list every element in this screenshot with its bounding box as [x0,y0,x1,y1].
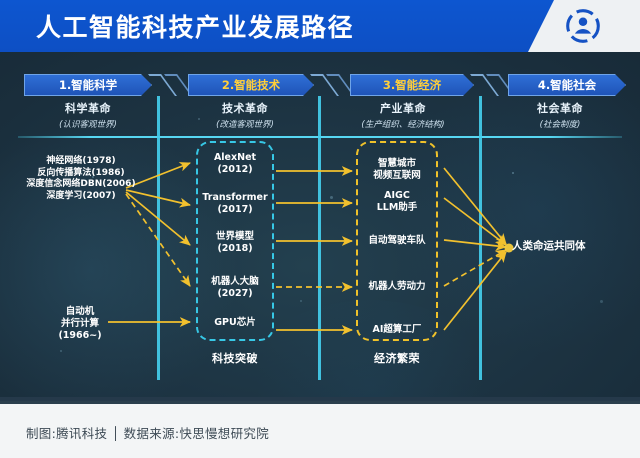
econ-node-aigc: AIGC LLM助手 [356,190,438,214]
column-divider [157,96,160,380]
tech-node-gpu-chip: GPU芯片 [196,317,274,329]
stage-header-2[interactable]: 2.智能技术 [188,74,314,96]
revolution-name: 科学革命 [18,100,158,116]
revolution-name: 技术革命 [172,100,318,116]
particle-dot [512,172,514,174]
node-line: 世界模型 [196,231,274,243]
stage-header-4[interactable]: 4.智能社会 [508,74,626,96]
stage-subtitle-4: 社会革命 (社会制度) [490,100,630,130]
science-items-list: 神经网络(1978) 反向传播算法(1986) 深度信念网络DBN(2006) … [6,156,156,202]
node-line: 机器人大脑 [194,276,276,288]
stage-header-3[interactable]: 3.智能经济 [350,74,474,96]
node-line: AlexNet [196,152,274,164]
tech-node-robot-brain: 机器人大脑 (2027) [194,276,276,300]
title-bar: 人工智能科技产业发展路径 [0,0,640,52]
stage-label: 3.智能经济 [383,77,441,93]
stage-subtitle-3: 产业革命 (生产组织、经济结构) [328,100,478,130]
tech-node-world-model: 世界模型 (2018) [196,231,274,255]
tencent-news-logo-icon [566,9,600,43]
econ-node-ai-supercompute-factory: AI超算工厂 [352,324,442,336]
node-line: (2017) [190,204,280,216]
node-line: LLM助手 [356,202,438,214]
node-line: (2027) [194,288,276,300]
node-line: 自动机 [20,306,140,318]
list-item: 深度信念网络DBN(2006) [6,179,156,191]
tech-node-alexnet: AlexNet (2012) [196,152,274,176]
node-line: 并行计算 [20,318,140,330]
econ-node-smart-city: 智慧城市 视频互联网 [356,158,438,182]
column-divider [479,96,482,380]
list-item: 深度学习(2007) [6,191,156,203]
stage-subtitle-2: 技术革命 (改造客观世界) [172,100,318,130]
node-line: (2018) [196,243,274,255]
economic-prosperity-caption: 经济繁荣 [356,350,438,366]
node-line: 机器人劳动力 [352,281,442,293]
particle-dot [600,300,603,303]
revolution-note: (生产组织、经济结构) [328,118,478,130]
page-title: 人工智能科技产业发展路径 [36,8,354,44]
econ-node-robot-labor: 机器人劳动力 [352,281,442,293]
infographic-canvas: 人工智能科技产业发展路径 1.智能科学 2.智能技术 3.智能经济 4.智能社会… [0,0,640,458]
stage-header-1[interactable]: 1.智能科学 [24,74,152,96]
econ-node-autonomous-fleet: 自动驾驶车队 [352,235,442,247]
tech-node-transformer: Transformer (2017) [190,192,280,216]
node-line: AI超算工厂 [352,324,442,336]
node-line: (2012) [196,164,274,176]
stage-label: 2.智能技术 [222,77,280,93]
node-line: GPU芯片 [196,317,274,329]
revolution-note: (改造客观世界) [172,118,318,130]
particle-dot [330,196,333,199]
node-line: (1966~) [20,330,140,342]
particle-dot [300,300,302,302]
node-line: Transformer [190,192,280,204]
credit-text: 制图:腾讯科技 │ 数据来源:快思慢想研究院 [26,423,269,442]
revolution-note: (社会制度) [490,118,630,130]
footer-bar: 制图:腾讯科技 │ 数据来源:快思慢想研究院 [0,401,640,458]
node-line: 视频互联网 [356,170,438,182]
compute-origin-node: 自动机 并行计算 (1966~) [20,306,140,342]
revolution-note: (认识客观世界) [18,118,158,130]
goal-node-shared-future: 人类命运共同体 [512,238,586,253]
node-line: 自动驾驶车队 [352,235,442,247]
revolution-name: 产业革命 [328,100,478,116]
node-line: AIGC [356,190,438,202]
stage-subtitle-1: 科学革命 (认识客观世界) [18,100,158,130]
list-item: 神经网络(1978) [6,156,156,168]
particle-dot [60,350,62,352]
stage-label: 1.智能科学 [59,77,117,93]
stage-label: 4.智能社会 [538,77,596,93]
revolution-name: 社会革命 [490,100,630,116]
node-line: 智慧城市 [356,158,438,170]
tech-breakthrough-caption: 科技突破 [196,350,274,366]
column-divider [318,96,321,380]
list-item: 反向传播算法(1986) [6,168,156,180]
